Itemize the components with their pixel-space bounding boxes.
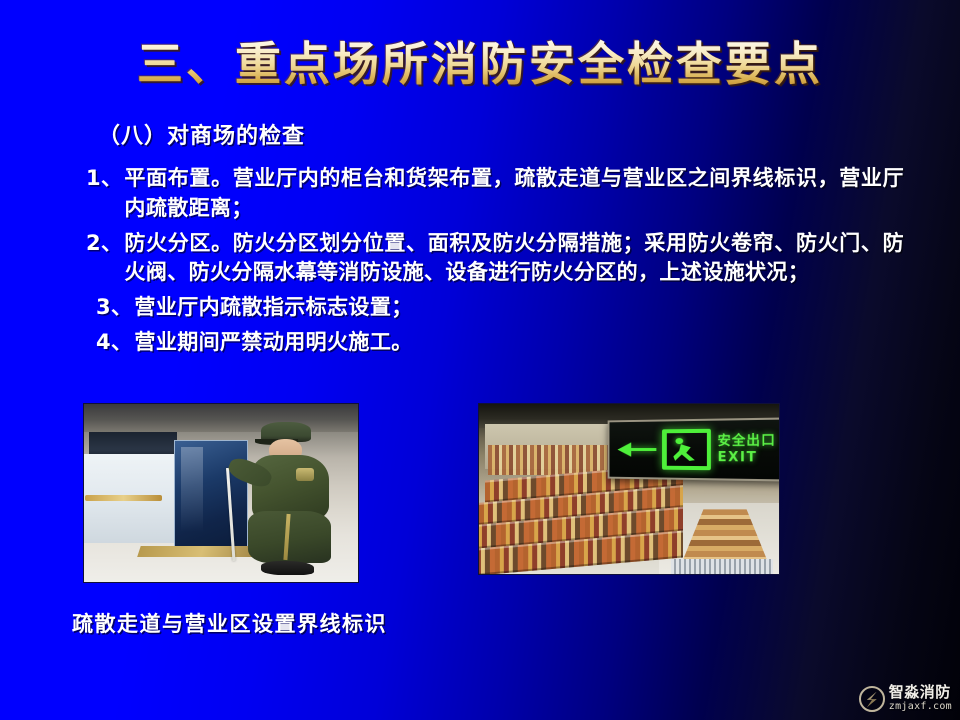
photo-supermarket-exit-sign: 安全出口 EXIT (478, 403, 780, 575)
list-item: 3、 营业厅内疏散指示标志设置； (96, 293, 904, 323)
photo-inspector-measuring-aisle (83, 403, 359, 583)
emergency-exit-sign: 安全出口 EXIT (608, 418, 780, 482)
list-item-text: 防火分区。防火分区划分位置、面积及防火分隔措施；采用防火卷帘、防火门、防火阀、防… (124, 229, 904, 289)
list-item-number: 3、 (96, 293, 134, 323)
photo-caption: 疏散走道与营业区设置界线标识 (72, 608, 387, 638)
white-counter (83, 454, 183, 543)
content-body: （八）对商场的检查 1、 平面布置。营业厅内的柜台和货架布置，疏散走道与营业区之… (0, 118, 960, 363)
watermark: 智淼消防 zmjaxf.com (859, 685, 952, 712)
fire-inspector-figure (235, 422, 345, 575)
list-item-number: 1、 (86, 164, 124, 224)
watermark-brand-name: 智淼消防 (889, 685, 952, 700)
page-title: 三、重点场所消防安全检查要点 (137, 38, 823, 91)
brand-logo-icon (859, 686, 885, 712)
section-subtitle: （八）对商场的检查 (98, 118, 960, 150)
exit-label-chinese: 安全出口 (718, 435, 776, 449)
wire-basket-display (671, 559, 773, 574)
officer-shoulder-badge (296, 468, 314, 482)
list-item-number: 2、 (86, 229, 124, 289)
left-arrow-icon (618, 443, 657, 458)
list-item-text: 营业期间严禁动用明火施工。 (134, 328, 904, 358)
running-man-exit-icon (662, 429, 711, 471)
slide-canvas: 三、重点场所消防安全检查要点 （八）对商场的检查 1、 平面布置。营业厅内的柜台… (0, 0, 960, 720)
watermark-text: 智淼消防 zmjaxf.com (889, 685, 952, 712)
list-item-text: 营业厅内疏散指示标志设置； (134, 293, 904, 323)
list-item: 4、 营业期间严禁动用明火施工。 (96, 328, 904, 358)
exit-label-english: EXIT (718, 451, 758, 464)
watermark-url: zmjaxf.com (889, 702, 952, 712)
list-item-number: 4、 (96, 328, 134, 358)
title-area: 三、重点场所消防安全检查要点 (0, 38, 960, 91)
exit-sign-text: 安全出口 EXIT (718, 435, 777, 465)
officer-shoe (261, 561, 314, 575)
list-item: 2、 防火分区。防火分区划分位置、面积及防火分隔措施；采用防火卷帘、防火门、防火… (86, 229, 904, 289)
list-item: 1、 平面布置。营业厅内的柜台和货架布置，疏散走道与营业区之间界线标识，营业厅内… (86, 164, 904, 224)
list-item-text: 平面布置。营业厅内的柜台和货架布置，疏散走道与营业区之间界线标识，营业厅内疏散距… (124, 164, 904, 224)
